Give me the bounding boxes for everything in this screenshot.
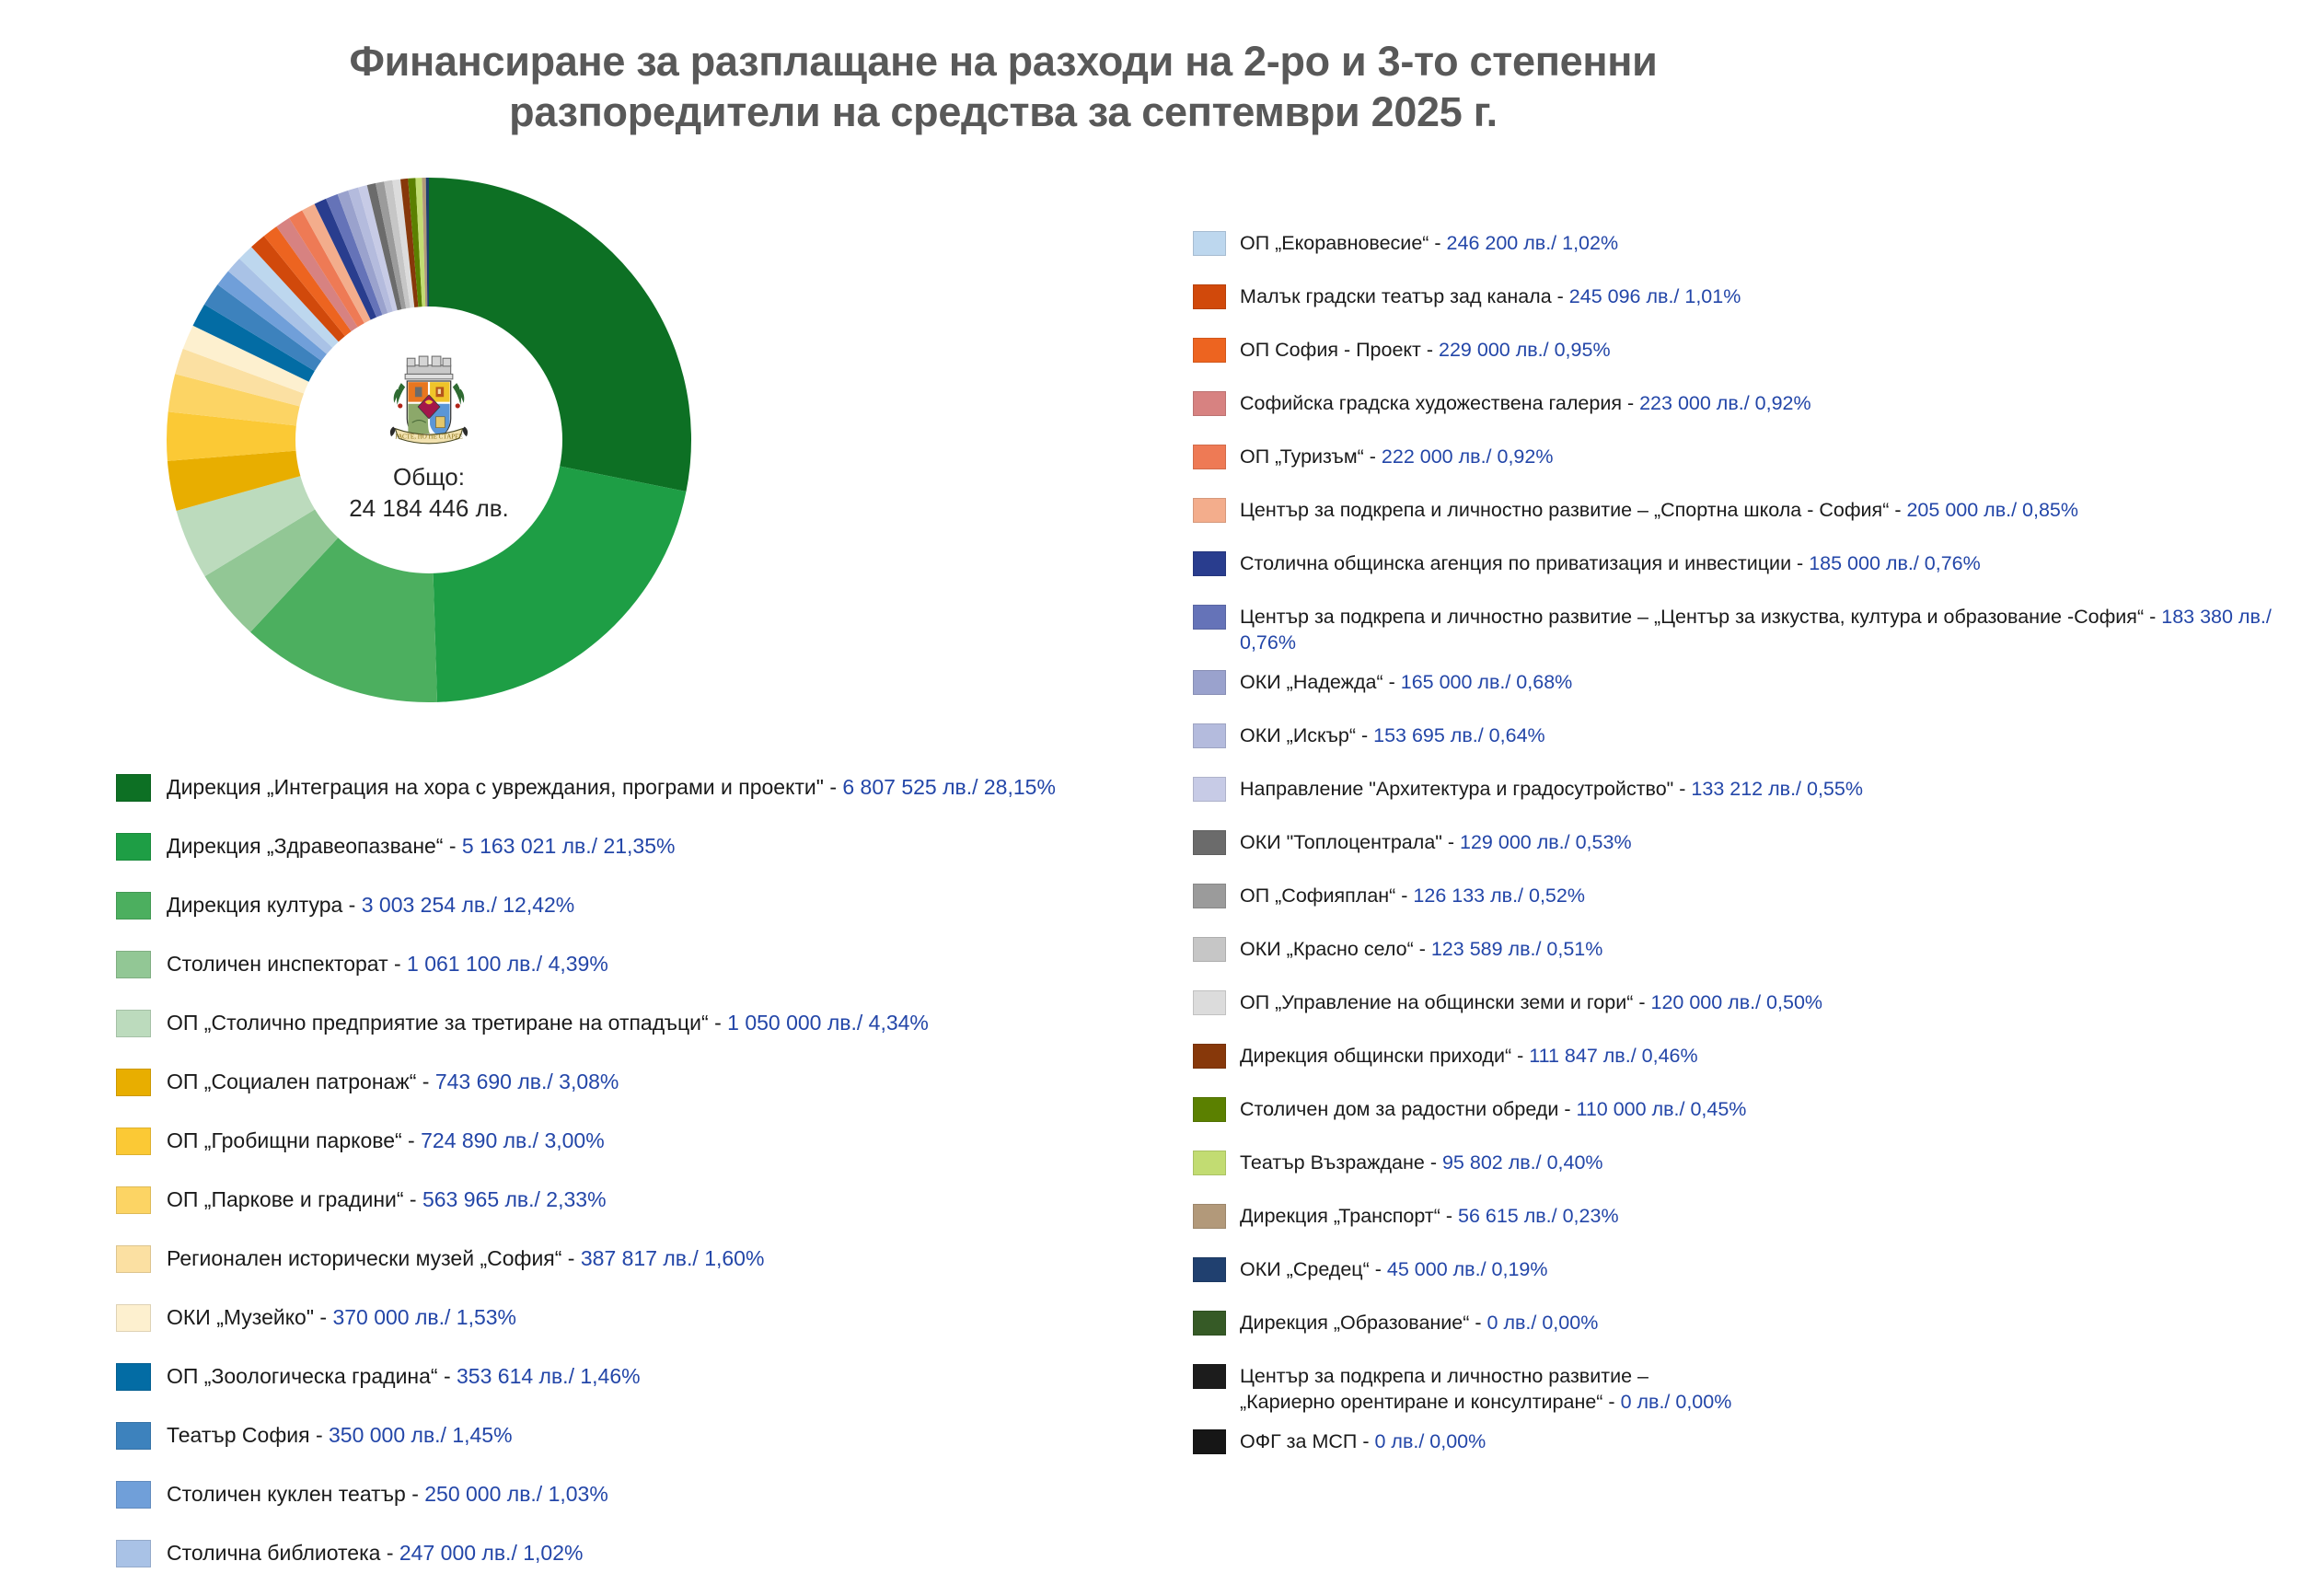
legend-label: ОКИ „Музейко" - 370 000 лв./ 1,53%: [167, 1301, 516, 1331]
legend-label-text: Дирекция „Транспорт“ -: [1240, 1205, 1458, 1227]
page-title: Финансиране за разплащане на разходи на …: [0, 37, 2007, 138]
legend-label-text: Център за подкрепа и личностно развитие …: [1240, 606, 2161, 628]
legend-label: Столичен дом за радостни обреди - 110 00…: [1240, 1094, 1746, 1122]
legend-value-text: 350 000 лв./ 1,45%: [329, 1423, 513, 1447]
legend-label: Театър Възраждане - 95 802 лв./ 0,40%: [1240, 1148, 1603, 1175]
legend-value-text: 3 003 254 лв./ 12,42%: [362, 893, 575, 917]
legend-item[interactable]: ОКИ „Искър“ - 153 695 лв./ 0,64%: [1193, 721, 2279, 763]
legend-label: Дирекция „Образование“ - 0 лв./ 0,00%: [1240, 1308, 1598, 1336]
legend-color-swatch: [116, 1186, 151, 1214]
legend-color-swatch: [116, 1422, 151, 1450]
legend-label: Дирекция общински приходи“ - 111 847 лв.…: [1240, 1041, 1698, 1069]
legend-label-text: ОКИ „Красно село“ -: [1240, 938, 1431, 960]
legend-value-text: 370 000 лв./ 1,53%: [332, 1305, 516, 1329]
legend-value-text: 185 000 лв./ 0,76%: [1809, 552, 1981, 574]
legend-label: Дирекция „Транспорт“ - 56 615 лв./ 0,23%: [1240, 1201, 1619, 1229]
legend-label: ОКИ „Красно село“ - 123 589 лв./ 0,51%: [1240, 934, 1602, 962]
legend-label-text: Дирекция „Интеграция на хора с увреждани…: [167, 775, 842, 799]
legend-label: Софийска градска художествена галерия - …: [1240, 388, 1811, 416]
legend-color-swatch: [1193, 1311, 1226, 1336]
legend-color-swatch: [1193, 338, 1226, 363]
legend-item[interactable]: Малък градски театър зад канала - 245 09…: [1193, 282, 2279, 324]
donut-total-value: 24 184 446 лв.: [349, 493, 509, 525]
legend-label: ОП София - Проект - 229 000 лв./ 0,95%: [1240, 335, 1611, 363]
legend-label: ОКИ „Надежда“ - 165 000 лв./ 0,68%: [1240, 667, 1572, 695]
legend-value-text: 205 000 лв./ 0,85%: [1906, 499, 2078, 521]
legend-color-swatch: [1193, 830, 1226, 855]
legend-label-text: ОП „Туризъм“ -: [1240, 445, 1382, 468]
legend-value-text: 0 лв./ 0,00%: [1487, 1312, 1599, 1334]
legend-label: ОКИ "Топлоцентрала" - 129 000 лв./ 0,53%: [1240, 827, 1632, 855]
legend-color-swatch: [116, 892, 151, 919]
legend-label: ОП „Управление на общински земи и гори“ …: [1240, 988, 1822, 1015]
legend-value-text: 245 096 лв./ 1,01%: [1569, 285, 1741, 307]
legend-value-text: 223 000 лв./ 0,92%: [1639, 392, 1811, 414]
legend-color-swatch: [116, 833, 151, 861]
legend-value-text: 0 лв./ 0,00%: [1374, 1430, 1486, 1452]
legend-value-text: 246 200 лв./ 1,02%: [1447, 232, 1619, 254]
legend-value-text: 129 000 лв./ 0,53%: [1460, 831, 1632, 853]
legend-item[interactable]: Център за подкрепа и личностно развитие …: [1193, 495, 2279, 538]
legend-color-swatch: [1193, 670, 1226, 695]
legend-label: Столична библиотека - 247 000 лв./ 1,02%: [167, 1537, 583, 1567]
legend-color-swatch: [116, 774, 151, 802]
legend-label: Столичен инспекторат - 1 061 100 лв./ 4,…: [167, 948, 608, 977]
legend-left-column: Дирекция „Интеграция на хора с увреждани…: [116, 771, 1147, 1596]
legend-color-swatch: [1193, 605, 1226, 630]
legend-color-swatch: [116, 951, 151, 978]
legend-item[interactable]: Дирекция „Здравеопазване“ - 5 163 021 лв…: [116, 830, 1147, 878]
donut-chart: РАСТЕ, НО НЕ СТАРЕЕ Общо: 24 184 446 лв.: [162, 173, 696, 707]
legend-item[interactable]: ОП „Гробищни паркове“ - 724 890 лв./ 3,0…: [116, 1125, 1147, 1173]
legend-label: Столичен куклен театър - 250 000 лв./ 1,…: [167, 1478, 608, 1508]
legend-color-swatch: [1193, 1044, 1226, 1069]
legend-item[interactable]: Столичен дом за радостни обреди - 110 00…: [1193, 1094, 2279, 1137]
legend-item[interactable]: ОП „Туризъм“ - 222 000 лв./ 0,92%: [1193, 442, 2279, 484]
legend-item[interactable]: Дирекция култура - 3 003 254 лв./ 12,42%: [116, 889, 1147, 937]
legend-value-text: 229 000 лв./ 0,95%: [1439, 339, 1611, 361]
legend-label-text: ОП „Гробищни паркове“ -: [167, 1128, 421, 1152]
legend-label-text: ОП „Софияплан“ -: [1240, 885, 1413, 907]
legend-value-text: 133 212 лв./ 0,55%: [1691, 778, 1863, 800]
legend-value-text: 153 695 лв./ 0,64%: [1373, 724, 1545, 746]
legend-value-text: 353 614 лв./ 1,46%: [457, 1364, 641, 1388]
legend-label-text: ОКИ „Музейко" -: [167, 1305, 332, 1329]
legend-label-text: Дирекция „Здравеопазване“ -: [167, 834, 462, 858]
page-title-line-2: разпоредители на средства за септември 2…: [0, 87, 2007, 138]
legend-color-swatch: [1193, 391, 1226, 416]
legend-label-text: Столичен дом за радостни обреди -: [1240, 1098, 1576, 1120]
legend-label-text: ОП „Паркове и градини“ -: [167, 1187, 422, 1211]
legend-value-text: 222 000 лв./ 0,92%: [1382, 445, 1554, 468]
legend-color-swatch: [1193, 445, 1226, 469]
legend-item[interactable]: ОП „Столично предприятие за третиране на…: [116, 1007, 1147, 1055]
legend-label-text: ОКИ „Искър“ -: [1240, 724, 1373, 746]
svg-text:РАСТЕ, НО НЕ СТАРЕЕ: РАСТЕ, НО НЕ СТАРЕЕ: [395, 434, 462, 441]
legend-value-text: 6 807 525 лв./ 28,15%: [842, 775, 1056, 799]
legend-color-swatch: [1193, 937, 1226, 962]
legend-label: Център за подкрепа и личностно развитие …: [1240, 495, 2078, 523]
legend-color-swatch: [1193, 723, 1226, 748]
legend-value-text: 120 000 лв./ 0,50%: [1650, 991, 1822, 1013]
legend-value-text: 743 690 лв./ 3,08%: [435, 1070, 619, 1093]
legend-label: Дирекция култура - 3 003 254 лв./ 12,42%: [167, 889, 574, 919]
legend-value-text: 1 050 000 лв./ 4,34%: [727, 1011, 929, 1035]
legend-value-text: 724 890 лв./ 3,00%: [421, 1128, 605, 1152]
legend-color-swatch: [116, 1481, 151, 1509]
legend-value-text: 111 847 лв./ 0,46%: [1529, 1045, 1697, 1067]
legend-value-text: 247 000 лв./ 1,02%: [399, 1541, 584, 1565]
legend-item[interactable]: ОП „Паркове и градини“ - 563 965 лв./ 2,…: [116, 1184, 1147, 1232]
legend-label-text: ОП София - Проект -: [1240, 339, 1439, 361]
legend-item[interactable]: ОКИ "Топлоцентрала" - 129 000 лв./ 0,53%: [1193, 827, 2279, 870]
legend-label: Малък градски театър зад канала - 245 09…: [1240, 282, 1741, 309]
legend-label-text: Център за подкрепа и личностно развитие …: [1240, 499, 1906, 521]
page-title-line-1: Финансиране за разплащане на разходи на …: [0, 37, 2007, 87]
legend-color-swatch: [116, 1010, 151, 1037]
legend-item[interactable]: Столична библиотека - 247 000 лв./ 1,02%: [116, 1537, 1147, 1585]
legend-label-text: ОП „Екоравновесие“ -: [1240, 232, 1447, 254]
legend-color-swatch: [1193, 1151, 1226, 1175]
legend-value-text: 250 000 лв./ 1,03%: [424, 1482, 608, 1506]
legend-color-swatch: [1193, 284, 1226, 309]
legend-item[interactable]: ОКИ „Красно село“ - 123 589 лв./ 0,51%: [1193, 934, 2279, 977]
legend-item[interactable]: Театър Възраждане - 95 802 лв./ 0,40%: [1193, 1148, 2279, 1190]
legend-value-text: 165 000 лв./ 0,68%: [1401, 671, 1573, 693]
legend-color-swatch: [116, 1245, 151, 1273]
legend-label: ОКИ „Средец“ - 45 000 лв./ 0,19%: [1240, 1255, 1547, 1282]
legend-item[interactable]: ОП „Социален патронаж“ - 743 690 лв./ 3,…: [116, 1066, 1147, 1114]
legend-right-column: ОП „Екоравновесие“ - 246 200 лв./ 1,02%М…: [1193, 228, 2279, 1480]
legend-item[interactable]: Регионален исторически музей „София“ - 3…: [116, 1243, 1147, 1290]
legend-color-swatch: [1193, 1429, 1226, 1454]
legend-item[interactable]: Направление "Архитектура и градосутройст…: [1193, 774, 2279, 816]
legend-item[interactable]: Дирекция „Образование“ - 0 лв./ 0,00%: [1193, 1308, 2279, 1350]
legend-label-text: ОКИ „Средец“ -: [1240, 1258, 1387, 1280]
legend-value-text: 123 589 лв./ 0,51%: [1431, 938, 1603, 960]
legend-label: ОП „Софияплан“ - 126 133 лв./ 0,52%: [1240, 881, 1585, 908]
legend-value-text: 5 163 021 лв./ 21,35%: [462, 834, 676, 858]
legend-label: Център за подкрепа и личностно развитие …: [1240, 602, 2279, 656]
sofia-coat-of-arms-icon: РАСТЕ, НО НЕ СТАРЕЕ: [379, 355, 479, 458]
legend-item[interactable]: Дирекция „Интеграция на хора с увреждани…: [116, 771, 1147, 819]
legend-item[interactable]: ОП „Екоравновесие“ - 246 200 лв./ 1,02%: [1193, 228, 2279, 271]
legend-label: ОП „Столично предприятие за третиране на…: [167, 1007, 929, 1036]
legend-label-text: Театър Възраждане -: [1240, 1151, 1442, 1174]
legend-label-text: Столична библиотека -: [167, 1541, 399, 1565]
legend-item[interactable]: Софийска градска художествена галерия - …: [1193, 388, 2279, 431]
legend-label: Дирекция „Интеграция на хора с увреждани…: [167, 771, 1056, 801]
legend-label: ОП „Гробищни паркове“ - 724 890 лв./ 3,0…: [167, 1125, 605, 1154]
legend-item[interactable]: ОП „Управление на общински земи и гори“ …: [1193, 988, 2279, 1030]
legend-item[interactable]: ОФГ за МСП - 0 лв./ 0,00%: [1193, 1427, 2279, 1469]
legend-label: Театър София - 350 000 лв./ 1,45%: [167, 1419, 513, 1449]
legend-label: ОП „Социален патронаж“ - 743 690 лв./ 3,…: [167, 1066, 619, 1095]
legend-value-text: 110 000 лв./ 0,45%: [1576, 1098, 1746, 1120]
legend-value-text: 1 061 100 лв./ 4,39%: [407, 952, 608, 976]
legend-color-swatch: [1193, 498, 1226, 523]
legend-label-text: Столична общинска агенция по приватизаци…: [1240, 552, 1809, 574]
legend-item[interactable]: ОП София - Проект - 229 000 лв./ 0,95%: [1193, 335, 2279, 377]
legend-value-text: 56 615 лв./ 0,23%: [1458, 1205, 1619, 1227]
legend-label: Направление "Архитектура и градосутройст…: [1240, 774, 1863, 802]
legend-color-swatch: [1193, 231, 1226, 256]
legend-label-text: Регионален исторически музей „София“ -: [167, 1246, 581, 1270]
legend-label-text: Дирекция „Образование“ -: [1240, 1312, 1487, 1334]
legend-label-text: Театър София -: [167, 1423, 329, 1447]
legend-label: ОП „Туризъм“ - 222 000 лв./ 0,92%: [1240, 442, 1553, 469]
legend-label: Център за подкрепа и личностно развитие …: [1240, 1361, 1731, 1416]
legend-item[interactable]: Театър София - 350 000 лв./ 1,45%: [116, 1419, 1147, 1467]
legend-item[interactable]: Дирекция „Транспорт“ - 56 615 лв./ 0,23%: [1193, 1201, 2279, 1243]
legend-color-swatch: [1193, 884, 1226, 908]
legend-label-text: Столичен инспекторат -: [167, 952, 407, 976]
legend-item[interactable]: ОП „Софияплан“ - 126 133 лв./ 0,52%: [1193, 881, 2279, 923]
legend-value-text: 95 802 лв./ 0,40%: [1442, 1151, 1603, 1174]
legend-color-swatch: [116, 1128, 151, 1155]
legend-label-text: ОФГ за МСП -: [1240, 1430, 1374, 1452]
legend-label-text: ОП „Социален патронаж“ -: [167, 1070, 435, 1093]
legend-item[interactable]: ОКИ „Надежда“ - 165 000 лв./ 0,68%: [1193, 667, 2279, 710]
legend-label-text: Софийска градска художествена галерия -: [1240, 392, 1639, 414]
legend-item[interactable]: Столична общинска агенция по приватизаци…: [1193, 549, 2279, 591]
legend-label-text: ОП „Зоологическа градина“ -: [167, 1364, 457, 1388]
legend-color-swatch: [116, 1069, 151, 1096]
legend-label-text: Направление "Архитектура и градосутройст…: [1240, 778, 1691, 800]
legend-color-swatch: [1193, 1204, 1226, 1229]
legend-label-text: Малък градски театър зад канала -: [1240, 285, 1569, 307]
legend-value-text: 387 817 лв./ 1,60%: [581, 1246, 765, 1270]
legend-value-text: 45 000 лв./ 0,19%: [1387, 1258, 1548, 1280]
legend-item[interactable]: ОКИ „Музейко" - 370 000 лв./ 1,53%: [116, 1301, 1147, 1349]
legend-color-swatch: [1193, 990, 1226, 1015]
legend-label: Столична общинска агенция по приватизаци…: [1240, 549, 1981, 576]
legend-label-text: Дирекция общински приходи“ -: [1240, 1045, 1529, 1067]
legend-color-swatch: [1193, 777, 1226, 802]
legend-label: ОП „Зоологическа градина“ - 353 614 лв./…: [167, 1360, 641, 1390]
legend-label-text: Център за подкрепа и личностно развитие …: [1240, 1365, 1648, 1413]
legend-label-text: ОКИ „Надежда“ -: [1240, 671, 1401, 693]
legend-item[interactable]: Столичен куклен театър - 250 000 лв./ 1,…: [116, 1478, 1147, 1526]
legend-color-swatch: [1193, 1364, 1226, 1389]
legend-label: ОКИ „Искър“ - 153 695 лв./ 0,64%: [1240, 721, 1545, 748]
legend-color-swatch: [116, 1304, 151, 1332]
donut-total-label: Общо:: [393, 462, 465, 493]
legend-color-swatch: [1193, 1257, 1226, 1282]
legend-label: ОП „Екоравновесие“ - 246 200 лв./ 1,02%: [1240, 228, 1618, 256]
legend-item[interactable]: ОП „Зоологическа градина“ - 353 614 лв./…: [116, 1360, 1147, 1408]
legend-label: Дирекция „Здравеопазване“ - 5 163 021 лв…: [167, 830, 675, 860]
legend-label-text: Дирекция култура -: [167, 893, 362, 917]
legend-value-text: 0 лв./ 0,00%: [1621, 1391, 1732, 1413]
legend-color-swatch: [1193, 1097, 1226, 1122]
legend-color-swatch: [116, 1363, 151, 1391]
legend-item[interactable]: Столичен инспекторат - 1 061 100 лв./ 4,…: [116, 948, 1147, 996]
legend-value-text: 126 133 лв./ 0,52%: [1413, 885, 1585, 907]
legend-value-text: 563 965 лв./ 2,33%: [422, 1187, 607, 1211]
donut-center-label: РАСТЕ, НО НЕ СТАРЕЕ Общо: 24 184 446 лв.: [295, 306, 562, 573]
legend-label-text: Столичен куклен театър -: [167, 1482, 424, 1506]
legend-label: ОФГ за МСП - 0 лв./ 0,00%: [1240, 1427, 1486, 1454]
legend-color-swatch: [1193, 551, 1226, 576]
legend-label-text: ОП „Управление на общински земи и гори“ …: [1240, 991, 1650, 1013]
legend-item[interactable]: Дирекция общински приходи“ - 111 847 лв.…: [1193, 1041, 2279, 1083]
legend-item[interactable]: Център за подкрепа и личностно развитие …: [1193, 602, 2279, 656]
legend-label: Регионален исторически музей „София“ - 3…: [167, 1243, 764, 1272]
legend-label-text: ОКИ "Топлоцентрала" -: [1240, 831, 1460, 853]
legend-label: ОП „Паркове и градини“ - 563 965 лв./ 2,…: [167, 1184, 607, 1213]
legend-item[interactable]: ОКИ „Средец“ - 45 000 лв./ 0,19%: [1193, 1255, 2279, 1297]
legend-color-swatch: [116, 1540, 151, 1567]
legend-label-text: ОП „Столично предприятие за третиране на…: [167, 1011, 727, 1035]
legend-item[interactable]: Център за подкрепа и личностно развитие …: [1193, 1361, 2279, 1416]
